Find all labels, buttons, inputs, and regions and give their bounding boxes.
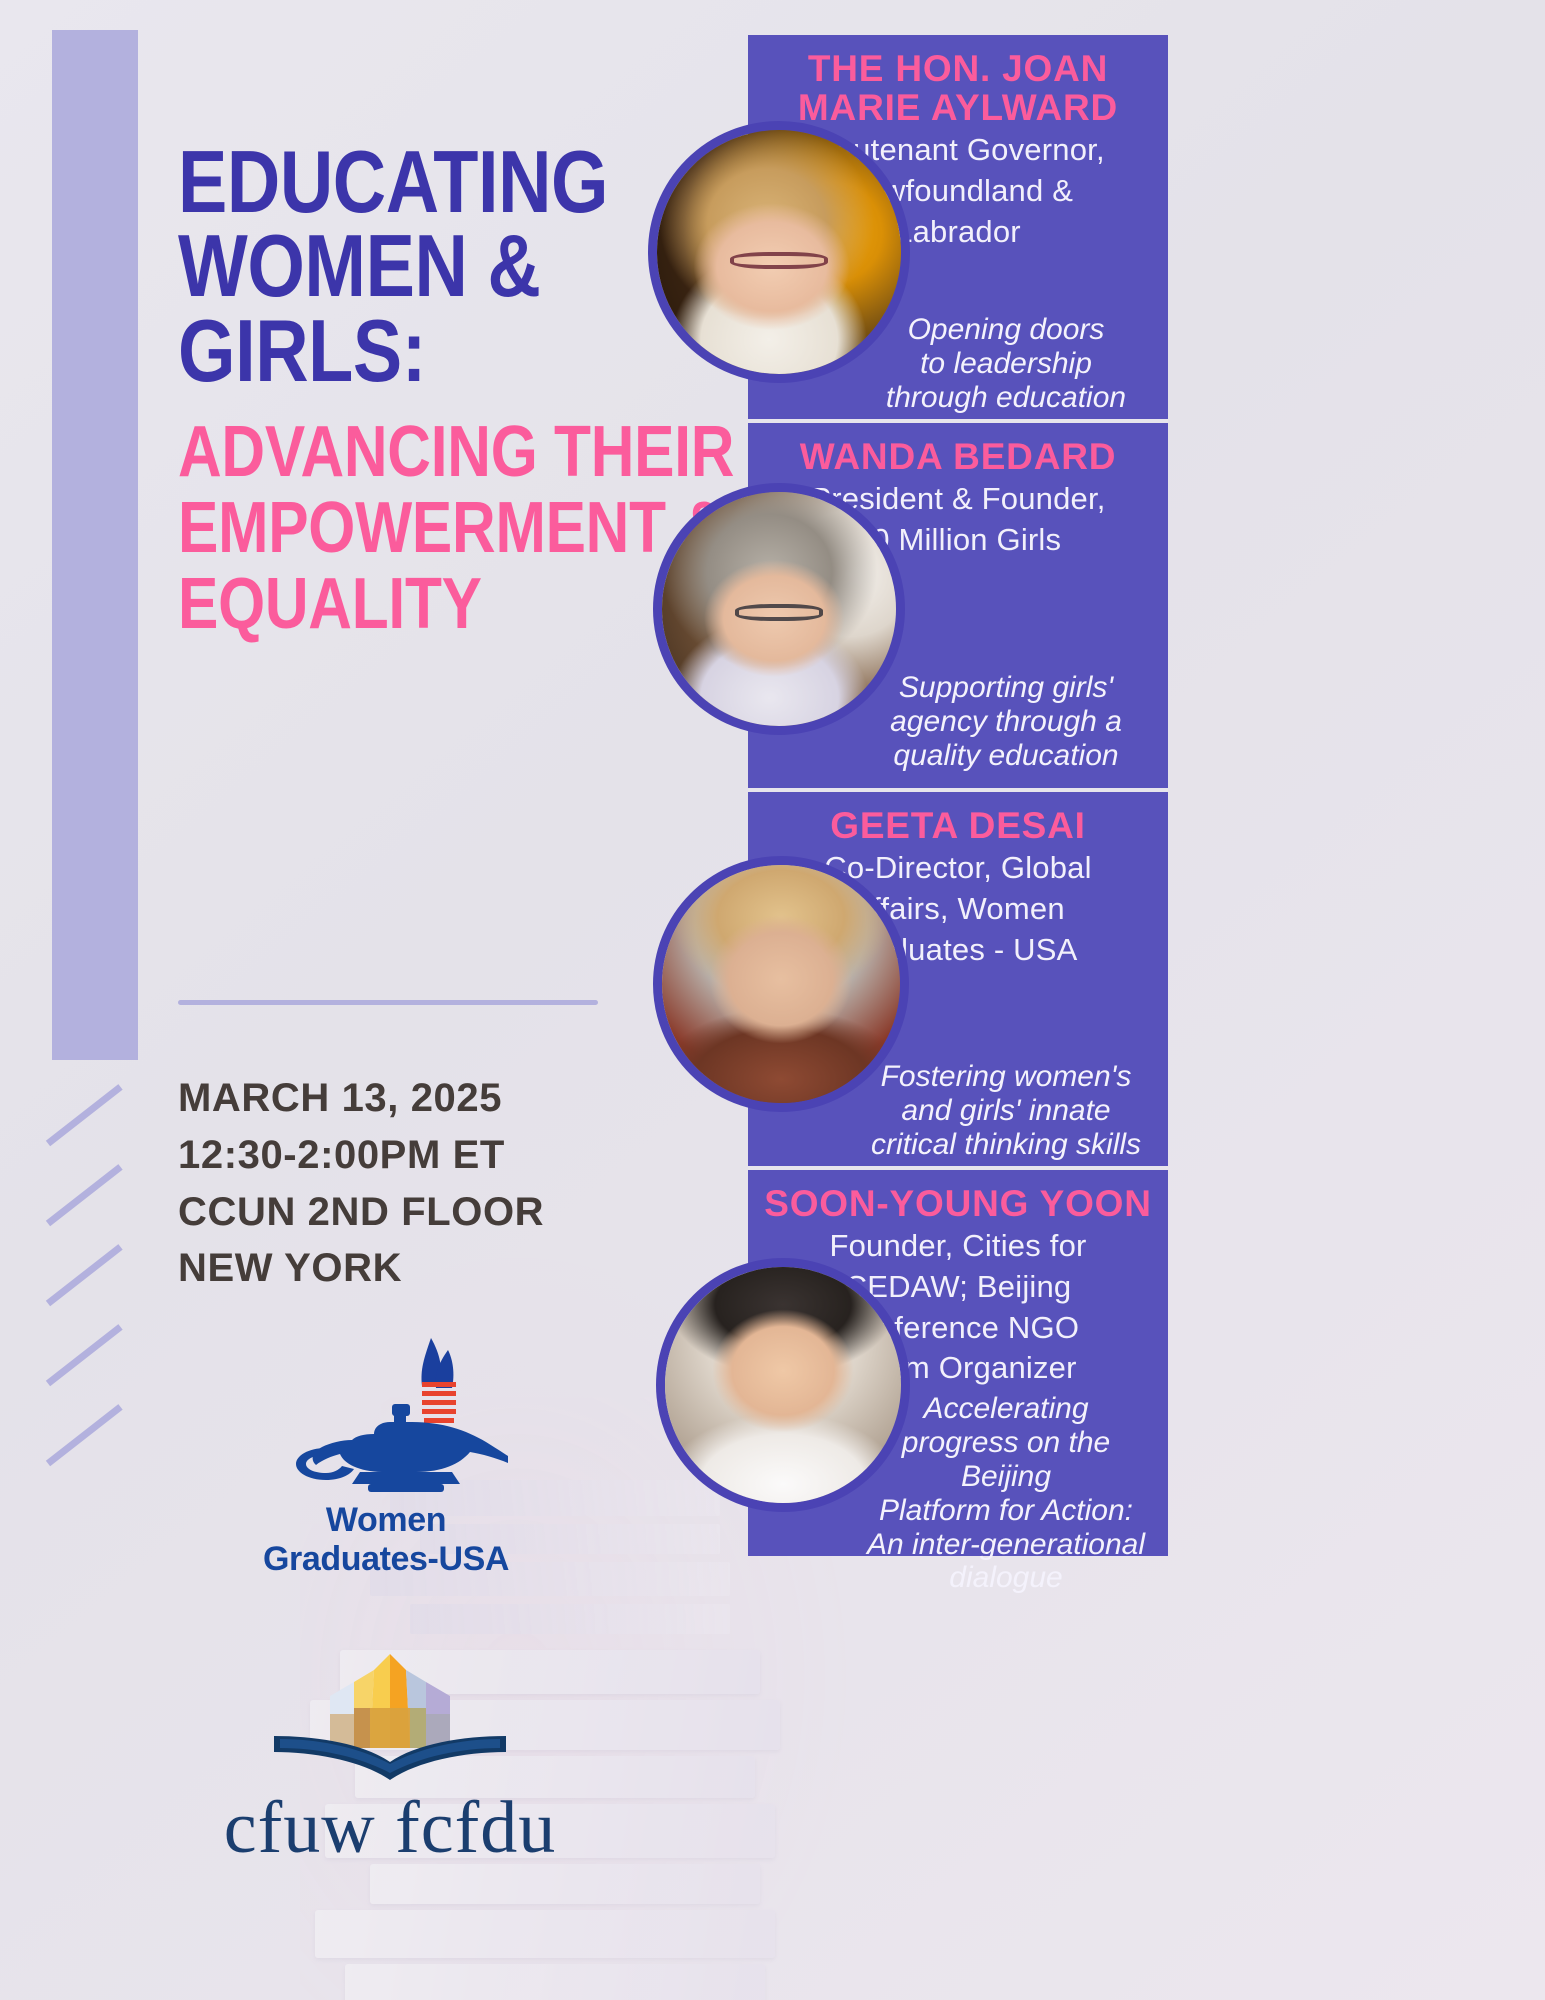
- quote-line-5: dialogue: [856, 1561, 1156, 1595]
- speaker-name-line-2: MARIE AYLWARD: [756, 88, 1160, 127]
- title-line-3: GIRLS:: [178, 309, 615, 393]
- speaker-quote-desai: Fostering women's and girls' innate crit…: [856, 1060, 1156, 1162]
- women-graduates-line-1: Women: [236, 1502, 536, 1539]
- diagonal-hatch-decoration: [44, 1100, 164, 1520]
- speaker-name-line-1: WANDA BEDARD: [756, 437, 1160, 476]
- subtitle-line-3: EQUALITY: [178, 567, 615, 643]
- oil-lamp-icon: [256, 1330, 516, 1500]
- portrait-yoon: [665, 1267, 901, 1503]
- book-slab: [315, 1910, 775, 1958]
- speaker-quote-bedard: Supporting girls' agency through a quali…: [856, 671, 1156, 773]
- quote-line-3: Platform for Action:: [856, 1494, 1156, 1528]
- book-slab: [345, 1964, 765, 2000]
- title-line-2: WOMEN &: [178, 224, 615, 308]
- speaker-panel-bedard: WANDA BEDARD President & Founder, 60 Mil…: [748, 419, 1168, 788]
- avatar: [648, 121, 910, 383]
- event-time: 12:30-2:00PM ET: [178, 1127, 698, 1184]
- subtitle: ADVANCING THEIR EMPOWERMENT & EQUALITY: [178, 415, 698, 642]
- quote-line-1: Fostering women's: [856, 1060, 1156, 1094]
- quote-line-2: and girls' innate: [856, 1094, 1156, 1128]
- event-poster: NGO CSW/NY PARALLEL EVENT EDUCATING WOME…: [0, 0, 1545, 2000]
- open-book-rays-icon: [260, 1640, 520, 1790]
- speaker-name-line-1: GEETA DESAI: [756, 806, 1160, 845]
- speaker-name-line-1: THE HON. JOAN: [756, 49, 1160, 88]
- speaker-panel-aylward: THE HON. JOAN MARIE AYLWARD Lieutenant G…: [748, 35, 1168, 419]
- divider-rule: [178, 1000, 598, 1005]
- speaker-role-line-1: Founder, Cities for: [756, 1229, 1160, 1264]
- quote-line-3: through education: [856, 381, 1156, 415]
- event-details: MARCH 13, 2025 12:30-2:00PM ET CCUN 2ND …: [178, 1070, 698, 1297]
- women-graduates-line-2: Graduates-USA: [236, 1541, 536, 1578]
- subtitle-line-2: EMPOWERMENT &: [178, 491, 615, 567]
- event-date: MARCH 13, 2025: [178, 1070, 698, 1127]
- women-graduates-usa-logo: Women Graduates-USA: [236, 1330, 536, 1590]
- speaker-panel-yoon: SOON-YOUNG YOON Founder, Cities for CEDA…: [748, 1166, 1168, 1556]
- quote-line-2: to leadership: [856, 347, 1156, 381]
- speaker-name-line-1: SOON-YOUNG YOON: [756, 1184, 1160, 1223]
- speaker-quote-aylward: Opening doors to leadership through educ…: [856, 313, 1156, 415]
- left-ribbon: [52, 30, 138, 1060]
- vertical-event-label: NGO CSW/NY PARALLEL EVENT: [52, 0, 138, 116]
- avatar: [653, 856, 909, 1112]
- cfuw-wordmark: cfuw fcfdu: [220, 1791, 560, 1865]
- avatar: [653, 483, 905, 735]
- quote-line-2: progress on the Beijing: [856, 1426, 1156, 1494]
- quote-line-1: Opening doors: [856, 313, 1156, 347]
- event-venue: CCUN 2ND FLOOR: [178, 1184, 698, 1241]
- book-edge: [410, 1604, 730, 1634]
- quote-line-2: agency through a: [856, 705, 1156, 739]
- subtitle-line-1: ADVANCING THEIR: [178, 415, 615, 491]
- title-line-1: EDUCATING: [178, 140, 615, 224]
- portrait-desai: [662, 865, 900, 1103]
- page-title: EDUCATING WOMEN & GIRLS: ADVANCING THEIR…: [178, 140, 698, 642]
- speaker-list: THE HON. JOAN MARIE AYLWARD Lieutenant G…: [748, 35, 1168, 1965]
- avatar: [656, 1258, 910, 1512]
- speaker-panel-desai: GEETA DESAI Co-Director, Global Affairs,…: [748, 788, 1168, 1166]
- quote-line-4: An inter-generational: [856, 1528, 1156, 1562]
- quote-line-1: Supporting girls': [856, 671, 1156, 705]
- quote-line-3: quality education: [856, 739, 1156, 773]
- quote-line-3: critical thinking skills: [856, 1128, 1156, 1162]
- event-city: NEW YORK: [178, 1240, 698, 1297]
- cfuw-fcfdu-logo: cfuw fcfdu: [220, 1640, 560, 1890]
